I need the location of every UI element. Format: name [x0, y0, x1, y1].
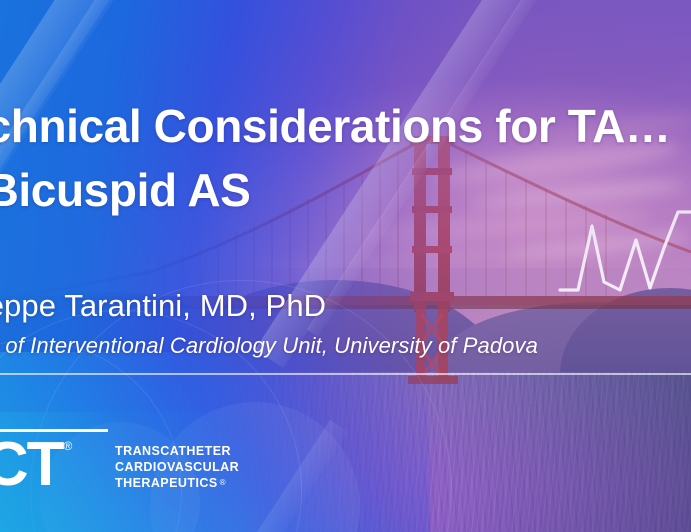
registered-trademark-icon: ®: [220, 478, 226, 487]
slide-content: …chnical Considerations for TA… …Bicuspi…: [0, 0, 691, 532]
tagline-line-1: TRANSCATHETER: [115, 444, 239, 460]
registered-trademark-icon: ®: [64, 438, 73, 454]
tagline-line-3-wrap: THERAPEUTICS®: [115, 475, 239, 492]
slide-title: …chnical Considerations for TA… …Bicuspi…: [0, 94, 691, 222]
speaker-name: …seppe Tarantini, MD, PhD: [0, 286, 691, 326]
tct-tagline: TRANSCATHETER CARDIOVASCULAR THERAPEUTIC…: [115, 444, 239, 492]
tagline-line-2: CARDIOVASCULAR: [115, 460, 239, 476]
speaker-role: …ctor of Interventional Cardiology Unit,…: [0, 331, 691, 361]
horizontal-divider: [0, 373, 691, 375]
tct-logo: TCT ®: [0, 434, 72, 496]
presentation-title-slide: …chnical Considerations for TA… …Bicuspi…: [0, 0, 691, 532]
tct-crf-logo-lockup: RF ® TCT ® TRANSCATHETER CARDIOVASCULAR …: [0, 392, 288, 502]
tct-wordmark: TCT: [0, 434, 63, 496]
tagline-line-3: THERAPEUTICS: [115, 476, 218, 490]
